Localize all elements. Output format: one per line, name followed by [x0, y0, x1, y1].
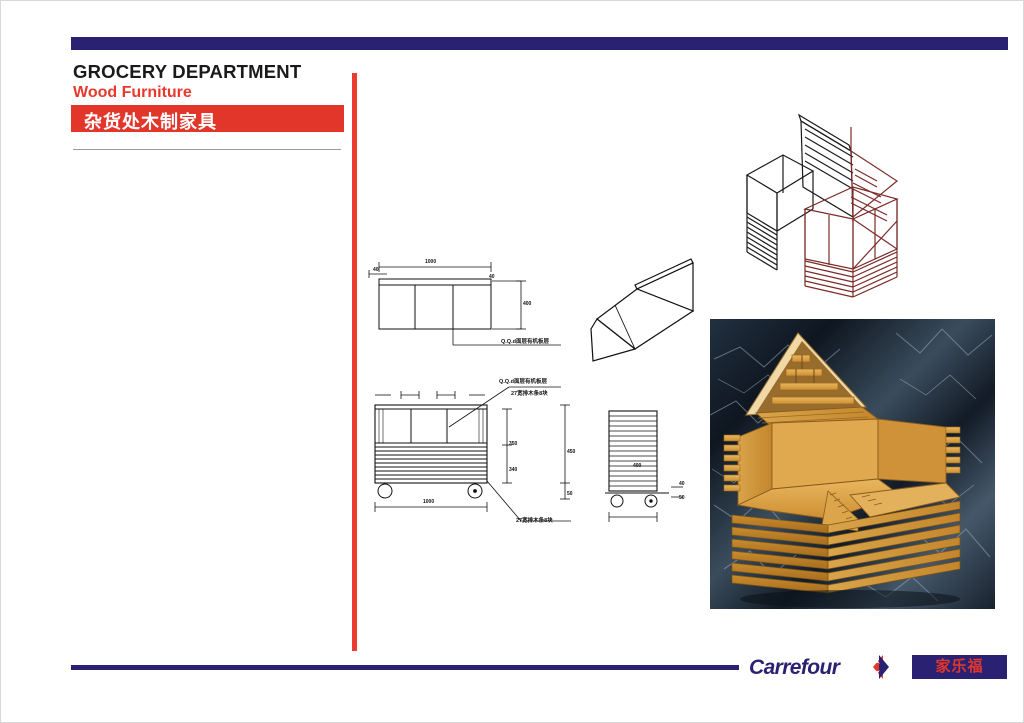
- front-dim-1000: 1000: [423, 499, 434, 505]
- folded-panel-detail-view: [557, 249, 707, 369]
- front-dim-450: 450: [567, 449, 575, 455]
- side-dim-40: 40: [679, 481, 685, 487]
- header-divider-rule: [73, 149, 341, 150]
- vertical-red-divider: [352, 73, 357, 651]
- isometric-wireframe-view: [701, 109, 971, 314]
- carrefour-chinese-name: 家乐福: [912, 655, 1007, 679]
- front-note-surface: Q.Q.d面层有机板层: [499, 377, 547, 385]
- page-subtitle: Wood Furniture: [73, 84, 192, 102]
- side-dim-400: 400: [633, 463, 641, 469]
- header-navy-bar: [71, 37, 1008, 50]
- carrefour-logo: Carrefour 家乐福: [749, 653, 1007, 683]
- plan-dim-40-right: 40: [489, 274, 495, 280]
- front-dim-340: 340: [509, 467, 517, 473]
- plan-dim-40-left: 40: [373, 267, 379, 273]
- carrefour-chinese-box: 家乐福: [912, 655, 1007, 679]
- chinese-title: 杂货处木制家具: [84, 108, 217, 134]
- front-note-slats-bottom: 27宽排木条8块: [516, 516, 553, 524]
- carrefour-wordmark: Carrefour: [749, 656, 839, 680]
- plan-dim-400: 400: [523, 301, 531, 307]
- page-title: GROCERY DEPARTMENT: [73, 61, 301, 83]
- front-dim-350: 350: [509, 441, 517, 447]
- chinese-title-band: 杂货处木制家具: [71, 105, 344, 132]
- carrefour-chevron-icon: [859, 654, 903, 680]
- front-dim-50: 50: [567, 491, 573, 497]
- plan-note-surface: Q.Q.d面层有机板层: [501, 337, 549, 345]
- side-dim-50: 50: [679, 495, 685, 501]
- side-elevation-view: [595, 401, 705, 531]
- spec-sheet-page: GROCERY DEPARTMENT Wood Furniture 杂货处木制家…: [0, 0, 1024, 723]
- front-note-slats-top: 27宽排木条8块: [511, 389, 548, 397]
- product-photo: [710, 319, 995, 609]
- front-elevation-view: [361, 381, 611, 531]
- plan-dim-1000: 1000: [425, 259, 436, 265]
- technical-drawings-group: 1000 40 40 400 Q.Q.d面层有机板层: [361, 241, 701, 531]
- footer-navy-rule: [71, 665, 739, 670]
